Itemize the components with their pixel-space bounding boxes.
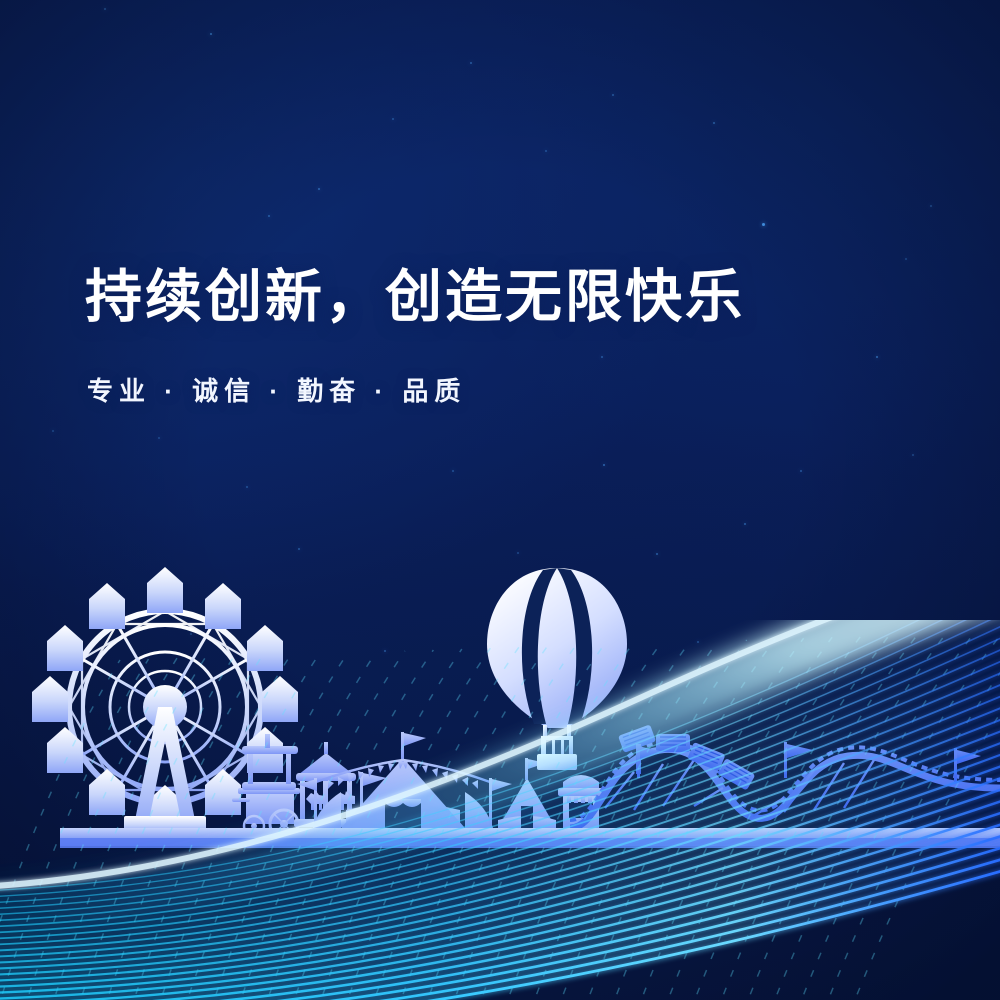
headline-text: 持续创新，创造无限快乐 bbox=[85, 264, 745, 330]
glowing-wave bbox=[0, 620, 1000, 1000]
wave-crosshatch-line bbox=[77, 656, 234, 1000]
wave-crosshatch-line bbox=[23, 658, 177, 1000]
poster-canvas: 持续创新，创造无限快乐专业 · 诚信 · 勤奋 · 品质 bbox=[0, 0, 1000, 1000]
wave-crosshatch-line bbox=[823, 631, 1000, 1000]
subline-text: 专业 · 诚信 · 勤奋 · 品质 bbox=[87, 374, 466, 408]
wave-crosshatch-line bbox=[770, 633, 975, 1000]
